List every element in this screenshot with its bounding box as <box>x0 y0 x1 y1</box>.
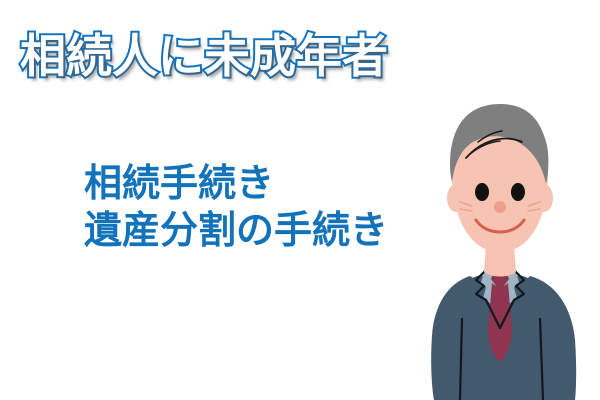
right-eye <box>511 183 525 201</box>
slide-canvas: 相続人に未成年者 相続手続き 遺産分割の手続き <box>0 0 600 400</box>
page-title: 相続人に未成年者 <box>20 28 388 84</box>
suit-group <box>431 269 576 400</box>
subtitle-line-1: 相続手続き <box>84 160 388 207</box>
subtitle-block: 相続手続き 遺産分割の手続き <box>84 160 388 254</box>
left-eye <box>475 183 489 201</box>
businessman-illustration <box>400 80 600 400</box>
subtitle-line-2: 遺産分割の手続き <box>84 207 388 254</box>
nose <box>494 201 506 213</box>
